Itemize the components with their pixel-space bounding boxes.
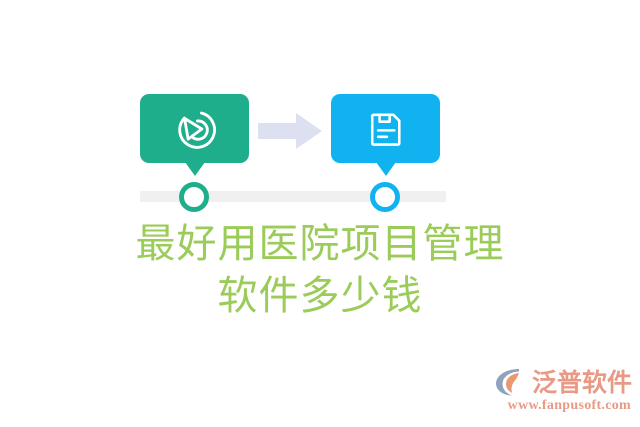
page-title-line-2: 软件多少钱 <box>0 270 640 322</box>
watermark-brand-row: 泛普软件 <box>495 367 632 397</box>
radar-signal-icon <box>173 107 217 151</box>
timeline-infographic <box>0 0 640 220</box>
fanpu-logo-icon <box>495 367 529 397</box>
step-card-2[interactable] <box>331 94 440 163</box>
timeline-node-1[interactable] <box>179 182 209 212</box>
document-save-icon <box>364 107 408 151</box>
timeline-node-2[interactable] <box>370 182 400 212</box>
watermark-logo: 泛普软件 www.fanpusoft.com <box>495 367 632 413</box>
card-pointer-2 <box>376 162 396 176</box>
watermark-url: www.fanpusoft.com <box>508 398 631 413</box>
page-title: 最好用医院项目管理 软件多少钱 <box>0 218 640 322</box>
watermark-brand-name: 泛普软件 <box>532 369 632 396</box>
card-pointer-1 <box>185 162 205 176</box>
page-title-line-1: 最好用医院项目管理 <box>0 218 640 270</box>
step-card-1[interactable] <box>140 94 249 163</box>
arrow-right-icon <box>258 113 322 149</box>
